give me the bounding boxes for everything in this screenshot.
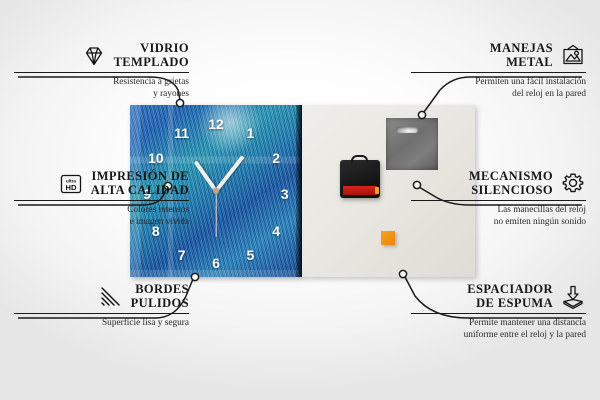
clock-numeral-12: 12 [208,117,224,131]
clock-numeral-1: 1 [246,126,254,140]
callout-rule [14,200,189,201]
polished-edges-icon [98,284,124,310]
clock-numeral-10: 10 [148,151,164,165]
hanger-slot [396,127,418,133]
callout-mecanismo-silencioso: MECANISMO SILENCIOSO Las manecillas del … [411,170,586,228]
mechanism-hook [351,155,368,163]
callout-title: ESPACIADOR DE ESPUMA [467,283,553,310]
clock-numeral-4: 4 [272,224,280,238]
callout-rule [411,72,586,73]
clock-minute-hand [214,155,244,192]
foam-spacer [381,231,395,245]
callout-header: VIDRIO TEMPLADO [14,42,189,69]
callout-header: MANEJAS METAL [411,42,586,69]
callout-rule [14,313,189,314]
clock-mechanism [340,160,380,198]
callout-title: VIDRIO TEMPLADO [114,42,189,69]
callout-header: ESPACIADOR DE ESPUMA [411,283,586,310]
foam-spacer-icon [560,284,586,310]
svg-text:HD: HD [65,182,76,191]
callout-bordes-pulidos: BORDES PULIDOS Superficie lisa y segura [14,283,189,330]
callout-vidrio-templado: VIDRIO TEMPLADO Resistencia a grietas y … [14,42,189,100]
metal-hanger-plate [386,118,438,170]
callout-rule [411,200,586,201]
clock-numeral-7: 7 [178,248,186,262]
callout-manejas-metal: MANEJAS METAL Permiten una fácil instala… [411,42,586,100]
callout-impresion-alta-calidad: ultra HD IMPRESIÓN DE ALTA CALIDAD Color… [14,170,189,228]
clock-center-cap [213,188,219,194]
callout-header: ultra HD IMPRESIÓN DE ALTA CALIDAD [14,170,189,197]
callout-title: BORDES PULIDOS [131,283,189,310]
gear-icon [560,171,586,197]
clock-numeral-2: 2 [272,151,280,165]
clock-numeral-6: 6 [212,256,220,270]
callout-title: IMPRESIÓN DE ALTA CALIDAD [91,170,189,197]
callout-espaciador-de-espuma: ESPACIADOR DE ESPUMA Permite mantener un… [411,283,586,341]
callout-rule [14,72,189,73]
clock-numeral-3: 3 [281,187,289,201]
callout-rule [411,313,586,314]
picture-hanger-icon [560,43,586,69]
infographic-canvas: 12 1 2 3 4 5 6 7 8 9 10 11 [0,0,600,400]
callout-header: BORDES PULIDOS [14,283,189,310]
callout-header: MECANISMO SILENCIOSO [411,170,586,197]
battery [343,186,377,195]
callout-title: MANEJAS METAL [490,42,553,69]
ultra-hd-icon: ultra HD [58,171,84,197]
clock-second-hand [215,191,216,237]
clock-numeral-11: 11 [174,126,189,140]
callout-title: MECANISMO SILENCIOSO [469,170,553,197]
clock-numeral-5: 5 [246,248,254,262]
diamond-icon [81,43,107,69]
